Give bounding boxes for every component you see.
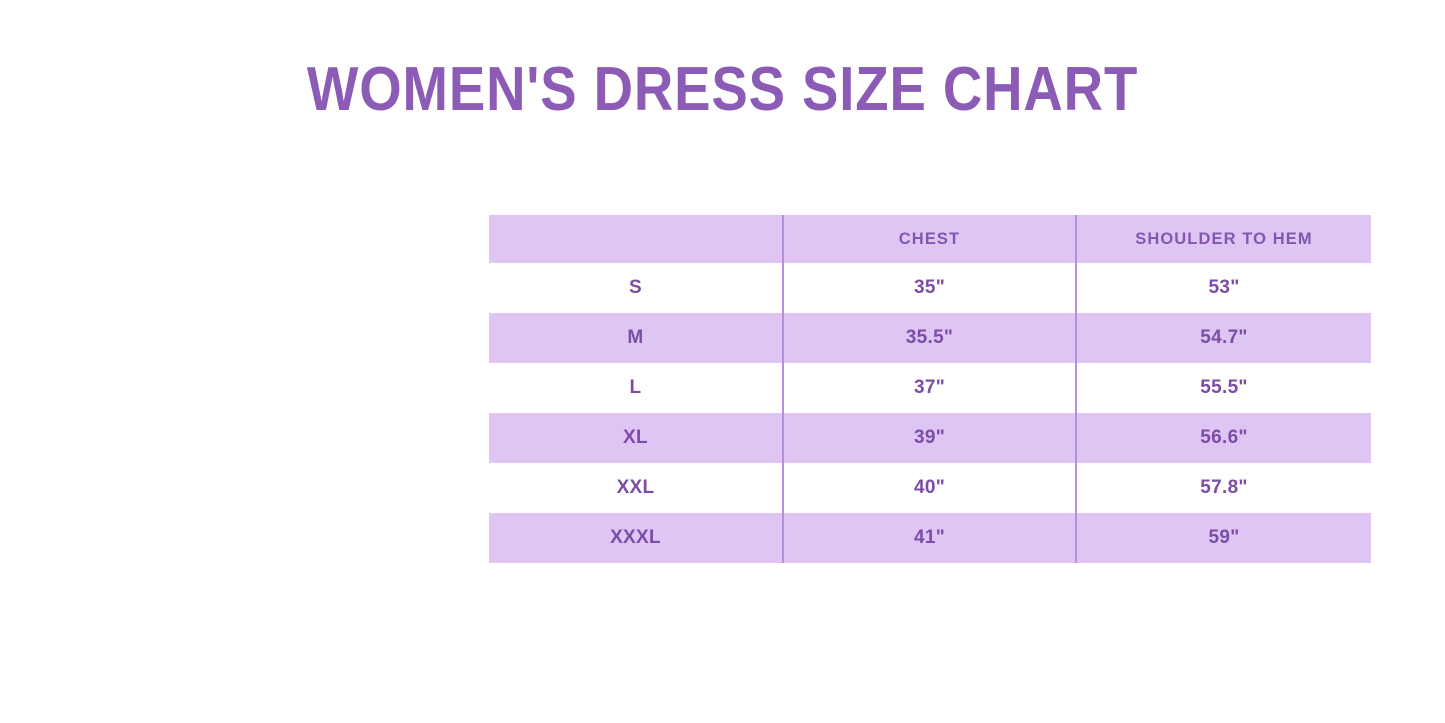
cell-size: XL [489,413,783,463]
cell-shoulder-to-hem: 55.5" [1076,363,1371,413]
cell-size: M [489,313,783,363]
cell-shoulder-to-hem: 56.6" [1076,413,1371,463]
cell-chest: 35.5" [783,313,1076,363]
cell-shoulder-to-hem: 57.8" [1076,463,1371,513]
table-row: M 35.5" 54.7" [489,313,1371,363]
table-body: S 35" 53" M 35.5" 54.7" L 37" 55.5" XL 3… [489,263,1371,563]
cell-chest: 39" [783,413,1076,463]
cell-size: XXL [489,463,783,513]
size-chart-page: WOMEN'S DRESS SIZE CHART CHEST SHOULDER … [0,0,1445,723]
cell-chest: 41" [783,513,1076,563]
cell-size: L [489,363,783,413]
table-row: L 37" 55.5" [489,363,1371,413]
column-header-size [489,215,783,263]
table-row: XXL 40" 57.8" [489,463,1371,513]
table-header: CHEST SHOULDER TO HEM [489,215,1371,263]
cell-shoulder-to-hem: 59" [1076,513,1371,563]
page-title: WOMEN'S DRESS SIZE CHART [87,57,1359,124]
cell-shoulder-to-hem: 54.7" [1076,313,1371,363]
cell-size: XXXL [489,513,783,563]
table-row: XXXL 41" 59" [489,513,1371,563]
table-row: XL 39" 56.6" [489,413,1371,463]
cell-chest: 37" [783,363,1076,413]
cell-shoulder-to-hem: 53" [1076,263,1371,313]
cell-size: S [489,263,783,313]
table-header-row: CHEST SHOULDER TO HEM [489,215,1371,263]
column-header-shoulder-to-hem: SHOULDER TO HEM [1076,215,1371,263]
cell-chest: 35" [783,263,1076,313]
column-header-chest: CHEST [783,215,1076,263]
size-chart-table: CHEST SHOULDER TO HEM S 35" 53" M 35.5" … [489,215,1371,563]
cell-chest: 40" [783,463,1076,513]
table-row: S 35" 53" [489,263,1371,313]
